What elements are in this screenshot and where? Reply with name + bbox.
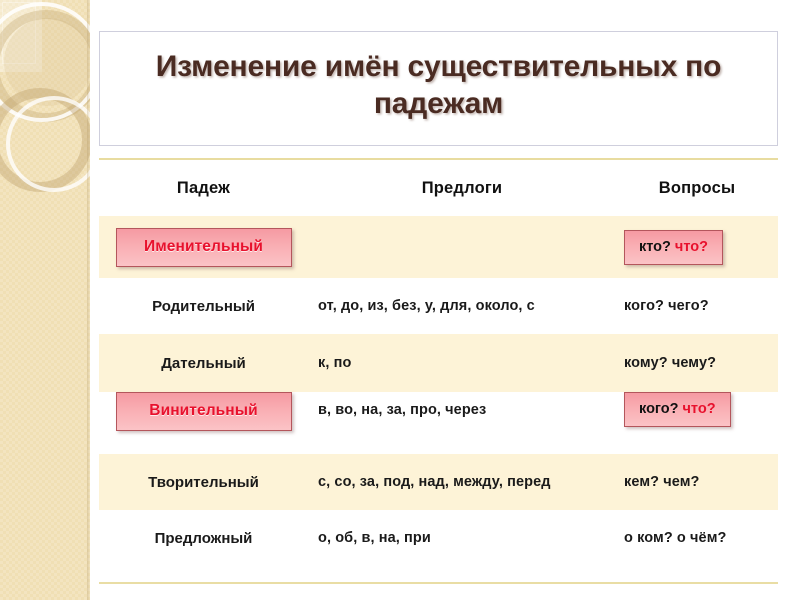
sidebar-edge-shadow xyxy=(87,0,90,600)
title-box: Изменение имён существительных по падежа… xyxy=(99,31,778,146)
case-cell: Родительный xyxy=(99,298,308,315)
questions-plain: кого? xyxy=(639,401,683,417)
questions-highlight: что? xyxy=(675,239,708,255)
case-cell: Творительный xyxy=(99,474,308,491)
prepositions-cell: от, до, из, без, у, для, около, с xyxy=(308,298,616,314)
table-row: Винительный в, во, на, за, про, через ко… xyxy=(99,392,778,454)
questions-badge-accusative[interactable]: кого? что? xyxy=(624,392,731,427)
questions-badge-cell: кого? что? xyxy=(616,392,778,427)
cases-table: Падеж Предлоги Вопросы Именительный кто?… xyxy=(99,158,778,584)
questions-badge-nominative[interactable]: кто? что? xyxy=(624,230,723,265)
table-row: Предложный о, об, в, на, при о ком? о чё… xyxy=(99,510,778,566)
questions-cell: кем? чем? xyxy=(616,474,778,490)
table-row: Творительный с, со, за, под, над, между,… xyxy=(99,454,778,510)
prepositions-cell: к, по xyxy=(308,355,616,371)
questions-cell: о ком? о чём? xyxy=(616,530,778,546)
prepositions-cell: с, со, за, под, над, между, перед xyxy=(308,474,616,490)
table-bottom-rule xyxy=(99,582,778,584)
case-cell: Предложный xyxy=(99,530,308,547)
questions-highlight: что? xyxy=(683,401,716,417)
case-badge-cell: Именительный xyxy=(99,228,308,267)
case-badge-cell: Винительный xyxy=(99,392,308,431)
column-header-questions: Вопросы xyxy=(616,179,778,198)
column-header-case: Падеж xyxy=(99,179,308,198)
case-badge-accusative[interactable]: Винительный xyxy=(116,392,292,431)
prepositions-cell: о, об, в, на, при xyxy=(308,530,616,546)
prepositions-cell: в, во, на, за, про, через xyxy=(308,392,616,418)
case-cell: Дательный xyxy=(99,355,308,372)
questions-cell: кого? чего? xyxy=(616,298,778,314)
page-title: Изменение имён существительных по падежа… xyxy=(114,49,763,122)
decorative-sidebar xyxy=(0,0,90,600)
questions-plain: кто? xyxy=(639,239,675,255)
table-row: Родительный от, до, из, без, у, для, око… xyxy=(99,278,778,334)
questions-cell: кому? чему? xyxy=(616,355,778,371)
table-header-row: Падеж Предлоги Вопросы xyxy=(99,160,778,216)
table-row: Именительный кто? что? xyxy=(99,216,778,278)
table-bottom-gap xyxy=(99,566,778,582)
column-header-prepositions: Предлоги xyxy=(308,179,616,198)
case-badge-nominative[interactable]: Именительный xyxy=(116,228,292,267)
table-row: Дательный к, по кому? чему? xyxy=(99,334,778,392)
questions-badge-cell: кто? что? xyxy=(616,230,778,265)
